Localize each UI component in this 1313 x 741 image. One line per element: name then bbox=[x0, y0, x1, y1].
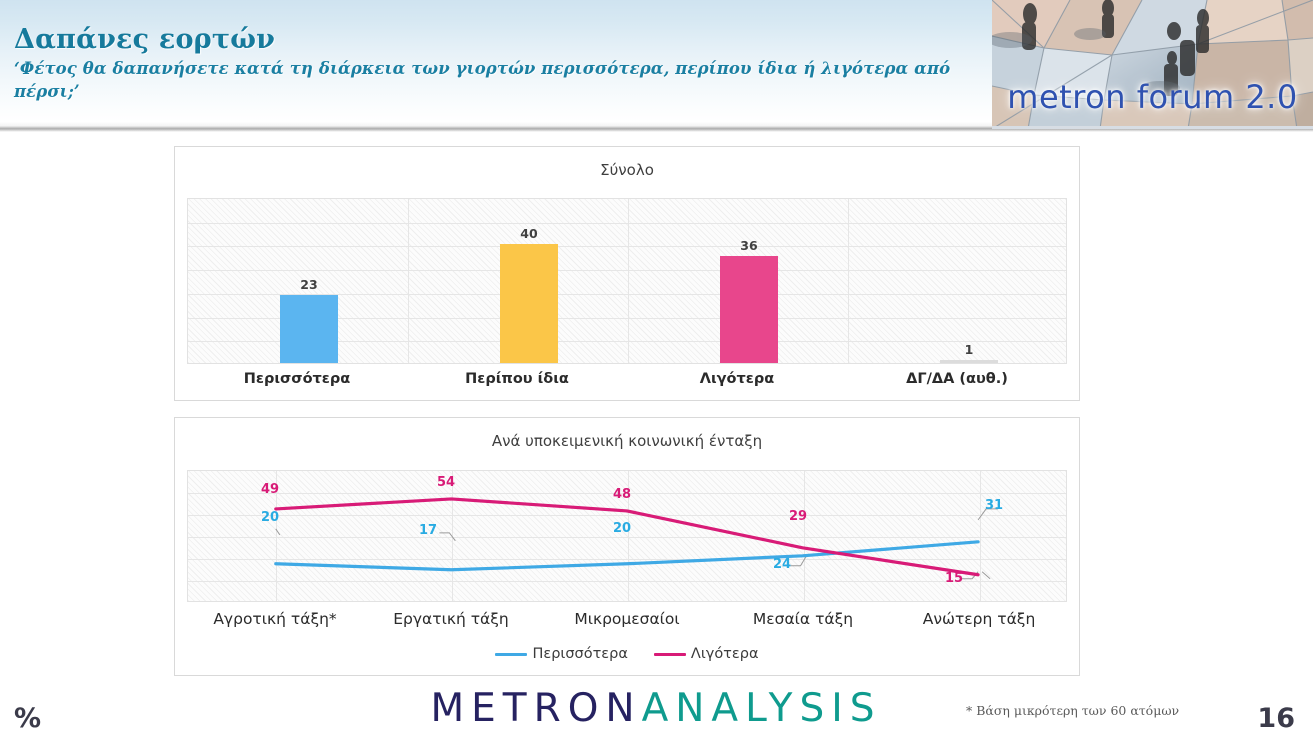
bar-value-label: 36 bbox=[720, 238, 778, 253]
chart1-category-label: ΔΓ/ΔΑ (αυθ.) bbox=[847, 371, 1067, 387]
bar-value-label: 40 bbox=[500, 226, 558, 241]
chart2-title: Ανά υποκειμενική κοινωνική ένταξη bbox=[175, 432, 1079, 450]
chart2-legend: Περισσότερα Λιγότερα bbox=[175, 646, 1079, 662]
bar-dg-da bbox=[940, 360, 998, 363]
chart2-category-label: Εργατική τάξη bbox=[363, 610, 539, 628]
chart1-category-label: Περίπου ίδια bbox=[407, 371, 627, 387]
page-subtitle: ‘Φέτος θα δαπανήσετε κατά τη διάρκεια τω… bbox=[14, 58, 974, 104]
gridline bbox=[188, 270, 1066, 271]
page-title: Δαπάνες εορτών bbox=[14, 26, 974, 54]
chart2-category-label: Μεσαία τάξη bbox=[715, 610, 891, 628]
bar-perissotera bbox=[280, 295, 338, 363]
logo-metron: METRON bbox=[430, 686, 641, 731]
point-label-ligotera: 15 bbox=[932, 571, 976, 586]
bar-value-label: 1 bbox=[940, 342, 998, 357]
slide-root: Δαπάνες εορτών ‘Φέτος θα δαπανήσετε κατά… bbox=[0, 0, 1313, 741]
gridline bbox=[188, 223, 1066, 224]
header-text-block: Δαπάνες εορτών ‘Φέτος θα δαπανήσετε κατά… bbox=[14, 26, 974, 104]
legend-label: Περισσότερα bbox=[532, 646, 627, 662]
legend-swatch-line bbox=[495, 653, 527, 656]
point-label-ligotera: 49 bbox=[248, 482, 292, 497]
chart-panel-social-class: Ανά υποκειμενική κοινωνική ένταξη bbox=[174, 417, 1080, 676]
category-divider bbox=[408, 199, 409, 363]
category-divider bbox=[628, 199, 629, 363]
legend-label: Λιγότερα bbox=[691, 646, 759, 662]
chart1-plot-area: 23 40 36 1 bbox=[187, 198, 1067, 364]
logo-analysis: ANALYSIS bbox=[642, 686, 882, 731]
point-label-ligotera: 48 bbox=[600, 487, 644, 502]
percent-symbol: % bbox=[14, 703, 41, 734]
gridline bbox=[188, 246, 1066, 247]
point-label-perissotera: 31 bbox=[972, 498, 1016, 513]
point-label-ligotera: 54 bbox=[424, 475, 468, 490]
chart2-category-label: Ανώτερη τάξη bbox=[891, 610, 1067, 628]
series-line-perissotera bbox=[276, 542, 978, 570]
chart-panel-total: Σύνολο 23 40 36 1 Περισσότερα bbox=[174, 146, 1080, 401]
bar-ligotera bbox=[720, 256, 778, 363]
legend-item-perissotera[interactable]: Περισσότερα bbox=[495, 646, 627, 662]
legend-item-ligotera[interactable]: Λιγότερα bbox=[654, 646, 759, 662]
legend-swatch-line bbox=[654, 653, 686, 656]
category-divider bbox=[848, 199, 849, 363]
brand-image: metron forum 2.0 bbox=[992, 0, 1313, 129]
chart2-category-label: Αγροτική τάξη* bbox=[187, 610, 363, 628]
point-label-perissotera: 20 bbox=[600, 521, 644, 536]
chart1-category-label: Περισσότερα bbox=[187, 371, 407, 387]
page-number: 16 bbox=[1257, 703, 1295, 734]
point-label-perissotera: 17 bbox=[406, 523, 450, 538]
bar-value-label: 23 bbox=[280, 277, 338, 292]
footnote: * Βάση μικρότερη των 60 ατόμων bbox=[966, 703, 1179, 718]
point-label-ligotera: 29 bbox=[776, 509, 820, 524]
metron-analysis-logo: METRONANALYSIS bbox=[398, 686, 914, 730]
chart1-category-label: Λιγότερα bbox=[627, 371, 847, 387]
chart1-title: Σύνολο bbox=[175, 161, 1079, 179]
brand-label: metron forum 2.0 bbox=[992, 78, 1313, 116]
chart2-category-label: Μικρομεσαίοι bbox=[539, 610, 715, 628]
point-label-perissotera: 20 bbox=[248, 510, 292, 525]
bar-peripou-idia bbox=[500, 244, 558, 363]
chart2-plot-area: 49 54 48 29 15 20 17 20 24 31 bbox=[187, 470, 1067, 602]
point-label-perissotera: 24 bbox=[760, 557, 804, 572]
